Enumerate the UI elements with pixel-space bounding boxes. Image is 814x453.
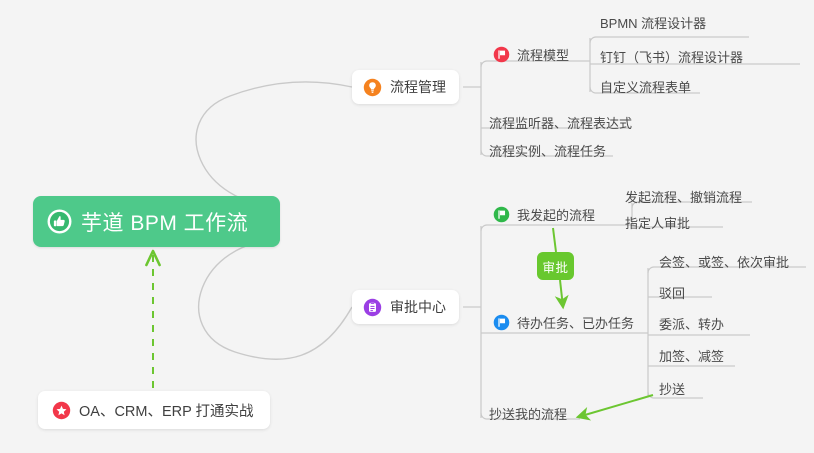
node-delegate-transfer[interactable]: 委派、转办 [659, 312, 724, 334]
node-dingtalk-feishu-designer[interactable]: 钉钉（飞书）流程设计器 [600, 45, 743, 67]
wire-root-to-approval-center [199, 240, 352, 359]
node-label: 指定人审批 [625, 213, 690, 232]
node-label: 自定义流程表单 [600, 77, 691, 96]
node-process-model[interactable]: 流程模型 [493, 43, 569, 65]
node-my-initiated-process[interactable]: 我发起的流程 [493, 203, 595, 225]
node-label: 加签、减签 [659, 346, 724, 365]
wire-underline-bpmn-designer [590, 37, 749, 43]
node-label: 驳回 [659, 283, 685, 302]
node-label: 我发起的流程 [517, 205, 595, 224]
node-label: 待办任务、已办任务 [517, 313, 634, 332]
flag-green-icon [493, 206, 510, 223]
footer-node-label: OA、CRM、ERP 打通实战 [79, 400, 254, 421]
node-label: 抄送我的流程 [489, 404, 567, 423]
node-process-listener-expression[interactable]: 流程监听器、流程表达式 [489, 111, 632, 133]
arrow-approval-upper-segment [553, 228, 556, 252]
node-label: BPMN 流程设计器 [600, 13, 706, 32]
flag-red-icon [493, 46, 510, 63]
branch-card-label: 审批中心 [390, 297, 446, 317]
branch-card-label: 流程管理 [390, 77, 446, 97]
clipboard-purple-icon [363, 298, 382, 317]
node-todo-done-tasks[interactable]: 待办任务、已办任务 [493, 311, 634, 333]
flag-blue-icon [493, 314, 510, 331]
node-label: 会签、或签、依次审批 [659, 252, 789, 271]
node-label: 流程模型 [517, 45, 569, 64]
node-label: 流程实例、流程任务 [489, 141, 606, 160]
node-reject[interactable]: 驳回 [659, 281, 685, 303]
thumbs-up-icon [47, 209, 72, 234]
node-label: 钉钉（飞书）流程设计器 [600, 47, 743, 66]
approval-chip[interactable]: 审批 [537, 252, 574, 280]
node-process-instance-task[interactable]: 流程实例、流程任务 [489, 139, 606, 161]
arrow-approval-flow [560, 280, 563, 307]
wire-root-to-process-management [196, 82, 352, 206]
node-add-remove-sign[interactable]: 加签、减签 [659, 344, 724, 366]
node-custom-process-form[interactable]: 自定义流程表单 [600, 75, 691, 97]
node-assignee-approval[interactable]: 指定人审批 [625, 211, 690, 233]
node-label: 发起流程、撤销流程 [625, 187, 742, 206]
branch-card-process-management[interactable]: 流程管理 [352, 70, 459, 104]
node-carbon-copy[interactable]: 抄送 [659, 377, 685, 399]
node-cc-to-me-process[interactable]: 抄送我的流程 [489, 402, 567, 424]
star-red-icon [52, 401, 71, 420]
arrow-carbon-copy-to-cc-process [578, 395, 653, 417]
footer-node-oa-crm-erp[interactable]: OA、CRM、ERP 打通实战 [38, 391, 270, 429]
node-countersign-orsign-sequential[interactable]: 会签、或签、依次审批 [659, 250, 789, 272]
branch-card-approval-center[interactable]: 审批中心 [352, 290, 459, 324]
root-node-label: 芋道 BPM 工作流 [81, 207, 248, 237]
mindmap-canvas: 芋道 BPM 工作流 流程管理 审批中心 OA、CRM、ERP 打通实战 [0, 0, 814, 453]
wire-underline-my-initiated [481, 225, 612, 231]
node-label: 流程监听器、流程表达式 [489, 113, 632, 132]
node-start-cancel-process[interactable]: 发起流程、撤销流程 [625, 185, 742, 207]
approval-chip-label: 审批 [542, 257, 568, 276]
node-label: 抄送 [659, 379, 685, 398]
node-bpmn-designer[interactable]: BPMN 流程设计器 [600, 11, 706, 33]
node-label: 委派、转办 [659, 314, 724, 333]
lightbulb-pin-icon [363, 78, 382, 97]
root-node[interactable]: 芋道 BPM 工作流 [33, 196, 280, 247]
